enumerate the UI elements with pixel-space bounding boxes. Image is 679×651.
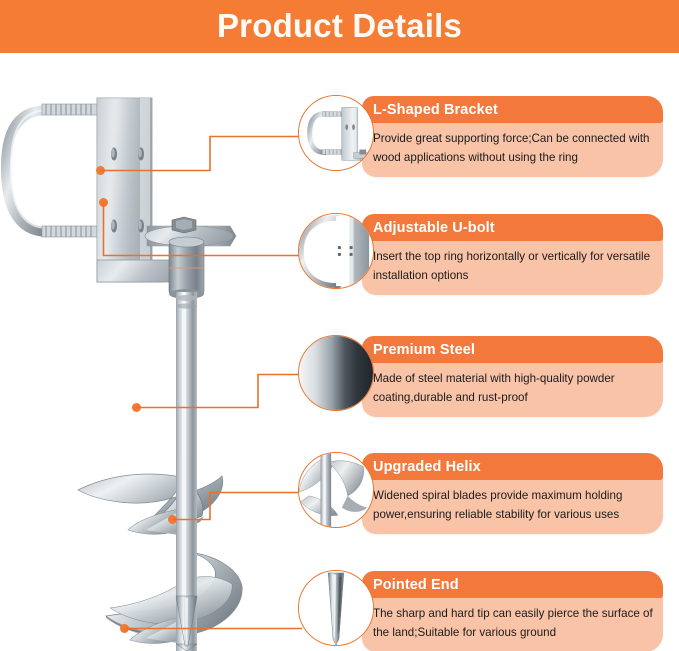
page-title: Product Details (0, 0, 679, 53)
thumbnail-pointed-end[interactable] (298, 570, 374, 646)
anchor-dot-adjustable-u-bolt (99, 198, 108, 207)
pointed-tip-thumb-icon (299, 571, 373, 645)
thumbnail-adjustable-u-bolt[interactable] (298, 213, 374, 289)
product-auger-svg (0, 60, 300, 651)
steel-gradient-thumb-icon (299, 336, 373, 410)
feature-card-description: Provide great supporting force;Can be co… (362, 123, 663, 177)
collar-part (169, 237, 204, 299)
anchor-dot-l-shaped-bracket (96, 166, 105, 175)
feature-card-pointed-end[interactable]: Pointed End The sharp and hard tip can e… (362, 571, 663, 651)
u-bolt-thumb-icon (299, 214, 373, 288)
feature-card-description: Made of steel material with high-quality… (362, 363, 663, 417)
feature-card-premium-steel[interactable]: Premium Steel Made of steel material wit… (362, 336, 663, 417)
product-details-page: Product Details (0, 0, 679, 651)
helix-blades-part (78, 460, 242, 651)
feature-card-title: Adjustable U-bolt (362, 220, 495, 236)
thumbnail-premium-steel[interactable] (298, 335, 374, 411)
product-illustration (0, 60, 300, 651)
feature-card-description: Widened spiral blades provide maximum ho… (362, 480, 663, 534)
feature-card-description: The sharp and hard tip can easily pierce… (362, 598, 663, 651)
helix-thumb-icon (299, 453, 373, 527)
feature-card-title: Pointed End (362, 577, 459, 593)
feature-card-title: Upgraded Helix (362, 459, 481, 475)
header-banner: Product Details (0, 0, 679, 53)
l-bracket-thumb-icon (299, 96, 373, 170)
anchor-dot-upgraded-helix (168, 515, 177, 524)
feature-card-adjustable-u-bolt[interactable]: Adjustable U-bolt Insert the top ring ho… (362, 214, 663, 295)
feature-card-titlebar: L-Shaped Bracket (362, 96, 663, 123)
thumbnail-l-shaped-bracket[interactable] (298, 95, 374, 171)
feature-card-description: Insert the top ring horizontally or vert… (362, 241, 663, 295)
feature-card-title: L-Shaped Bracket (362, 102, 498, 118)
anchor-dot-premium-steel (132, 403, 141, 412)
u-bolt-part (6, 104, 106, 237)
feature-card-l-shaped-bracket[interactable]: L-Shaped Bracket Provide great supportin… (362, 96, 663, 177)
thumbnail-upgraded-helix[interactable] (298, 452, 374, 528)
feature-card-title: Premium Steel (362, 342, 475, 358)
anchor-dot-pointed-end (120, 624, 129, 633)
feature-card-upgraded-helix[interactable]: Upgraded Helix Widened spiral blades pro… (362, 453, 663, 534)
feature-card-titlebar: Premium Steel (362, 336, 663, 363)
feature-card-titlebar: Pointed End (362, 571, 663, 598)
feature-card-titlebar: Upgraded Helix (362, 453, 663, 480)
feature-card-titlebar: Adjustable U-bolt (362, 214, 663, 241)
